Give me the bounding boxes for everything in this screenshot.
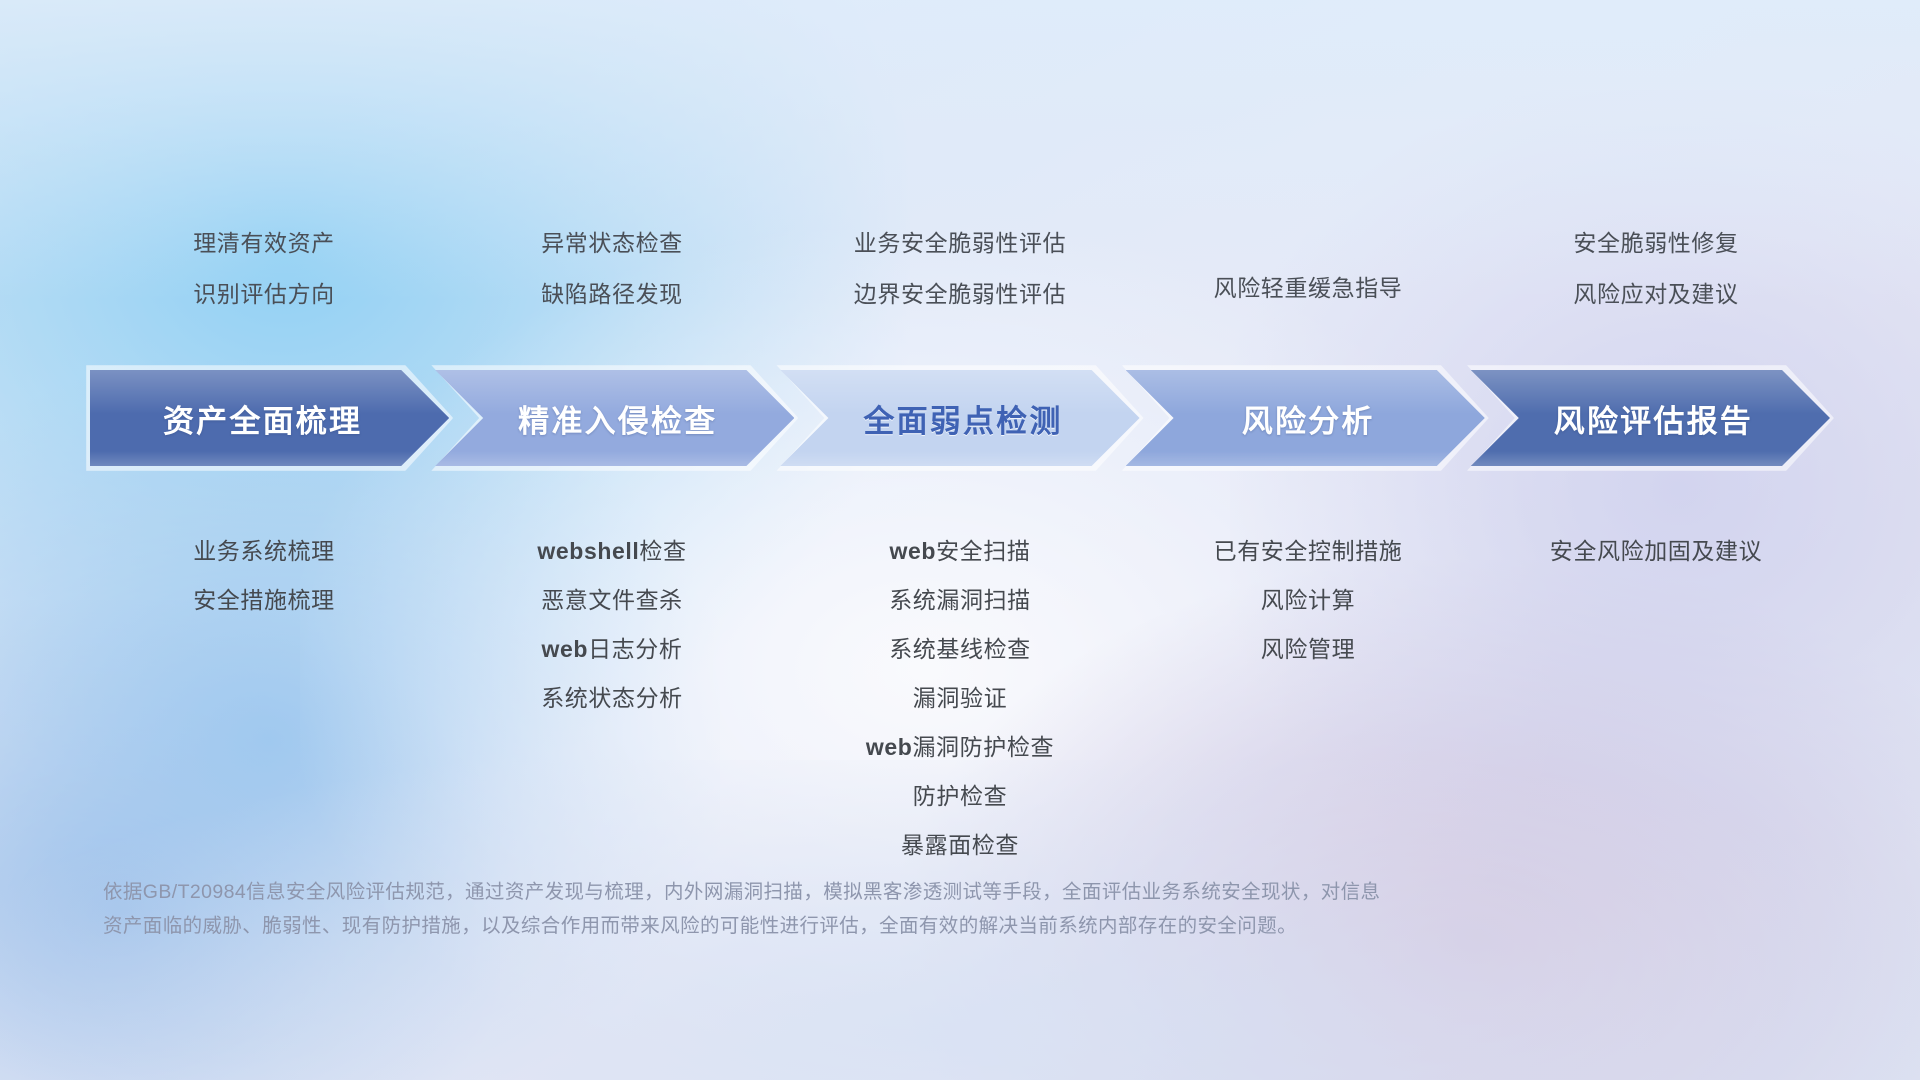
footnote: 依据GB/T20984信息安全风险评估规范，通过资产发现与梳理，内外网漏洞扫描，… bbox=[103, 875, 1663, 943]
output-label: 异常状态检查 bbox=[438, 232, 786, 255]
activity-label: web安全扫描 bbox=[786, 540, 1134, 563]
stage-label: 全面弱点检测 bbox=[863, 396, 1062, 441]
arrow-base-sheen bbox=[90, 451, 449, 466]
activity-label: 安全风险加固及建议 bbox=[1482, 540, 1830, 563]
output-label: 安全脆弱性修复 bbox=[1482, 232, 1830, 255]
activity-label: web日志分析 bbox=[438, 638, 786, 661]
stage-outputs-row: 理清有效资产识别评估方向异常状态检查缺陷路径发现业务安全脆弱性评估边界安全脆弱性… bbox=[90, 232, 1830, 306]
stage-outputs-risk-analysis: 风险轻重缓急指导 bbox=[1134, 232, 1482, 300]
activity-label: 安全措施梳理 bbox=[90, 589, 438, 612]
arrow-base-sheen bbox=[1126, 451, 1485, 466]
activity-label: web漏洞防护检查 bbox=[786, 736, 1134, 759]
footnote-line-1: 依据GB/T20984信息安全风险评估规范，通过资产发现与梳理，内外网漏洞扫描，… bbox=[103, 875, 1663, 909]
output-label: 风险轻重缓急指导 bbox=[1134, 277, 1482, 300]
output-label: 边界安全脆弱性评估 bbox=[786, 283, 1134, 306]
process-stage-weakness-detection[interactable]: 全面弱点检测 bbox=[780, 370, 1139, 466]
process-stage-asset-inventory[interactable]: 资产全面梳理 bbox=[90, 370, 449, 466]
stage-activities-risk-report: 安全风险加固及建议 bbox=[1482, 540, 1830, 563]
process-stage-intrusion-check[interactable]: 精准入侵检查 bbox=[435, 370, 794, 466]
stage-label: 风险评估报告 bbox=[1554, 396, 1753, 441]
activity-label: 恶意文件查杀 bbox=[438, 589, 786, 612]
stage-label: 精准入侵检查 bbox=[518, 396, 717, 441]
process-stage-risk-report[interactable]: 风险评估报告 bbox=[1471, 370, 1830, 466]
arrow-base-sheen bbox=[1471, 451, 1830, 466]
activity-label: 系统漏洞扫描 bbox=[786, 589, 1134, 612]
process-stage-risk-analysis[interactable]: 风险分析 bbox=[1126, 370, 1485, 466]
activity-label: 漏洞验证 bbox=[786, 687, 1134, 710]
output-label: 缺陷路径发现 bbox=[438, 283, 786, 306]
output-label: 业务安全脆弱性评估 bbox=[786, 232, 1134, 255]
arrow-base-sheen bbox=[780, 451, 1139, 466]
output-label: 识别评估方向 bbox=[90, 283, 438, 306]
stage-outputs-intrusion-check: 异常状态检查缺陷路径发现 bbox=[438, 232, 786, 306]
process-arrow-band: 资产全面梳理精准入侵检查全面弱点检测风险分析风险评估报告 bbox=[90, 370, 1830, 466]
output-label: 理清有效资产 bbox=[90, 232, 438, 255]
activity-label: 防护检查 bbox=[786, 785, 1134, 808]
activity-label: webshell检查 bbox=[438, 540, 786, 563]
activity-label: 系统基线检查 bbox=[786, 638, 1134, 661]
activity-label: 暴露面检查 bbox=[786, 834, 1134, 857]
stage-label: 风险分析 bbox=[1242, 396, 1375, 441]
stage-outputs-risk-report: 安全脆弱性修复风险应对及建议 bbox=[1482, 232, 1830, 306]
stage-activities-row: 业务系统梳理安全措施梳理webshell检查恶意文件查杀web日志分析系统状态分… bbox=[90, 540, 1830, 857]
stage-activities-weakness-detection: web安全扫描系统漏洞扫描系统基线检查漏洞验证web漏洞防护检查防护检查暴露面检… bbox=[786, 540, 1134, 857]
activity-label: 风险计算 bbox=[1134, 589, 1482, 612]
stage-outputs-asset-inventory: 理清有效资产识别评估方向 bbox=[90, 232, 438, 306]
stage-label: 资产全面梳理 bbox=[163, 396, 362, 441]
activity-label: 风险管理 bbox=[1134, 638, 1482, 661]
arrow-base-sheen bbox=[435, 451, 794, 466]
stage-outputs-weakness-detection: 业务安全脆弱性评估边界安全脆弱性评估 bbox=[786, 232, 1134, 306]
activity-label: 业务系统梳理 bbox=[90, 540, 438, 563]
activity-label: 已有安全控制措施 bbox=[1134, 540, 1482, 563]
footnote-line-2: 资产面临的威胁、脆弱性、现有防护措施，以及综合作用而带来风险的可能性进行评估，全… bbox=[103, 909, 1663, 943]
output-label: 风险应对及建议 bbox=[1482, 283, 1830, 306]
stage-activities-risk-analysis: 已有安全控制措施风险计算风险管理 bbox=[1134, 540, 1482, 661]
risk-assessment-process-diagram: 理清有效资产识别评估方向异常状态检查缺陷路径发现业务安全脆弱性评估边界安全脆弱性… bbox=[0, 0, 1920, 1080]
stage-activities-intrusion-check: webshell检查恶意文件查杀web日志分析系统状态分析 bbox=[438, 540, 786, 710]
stage-activities-asset-inventory: 业务系统梳理安全措施梳理 bbox=[90, 540, 438, 612]
activity-label: 系统状态分析 bbox=[438, 687, 786, 710]
